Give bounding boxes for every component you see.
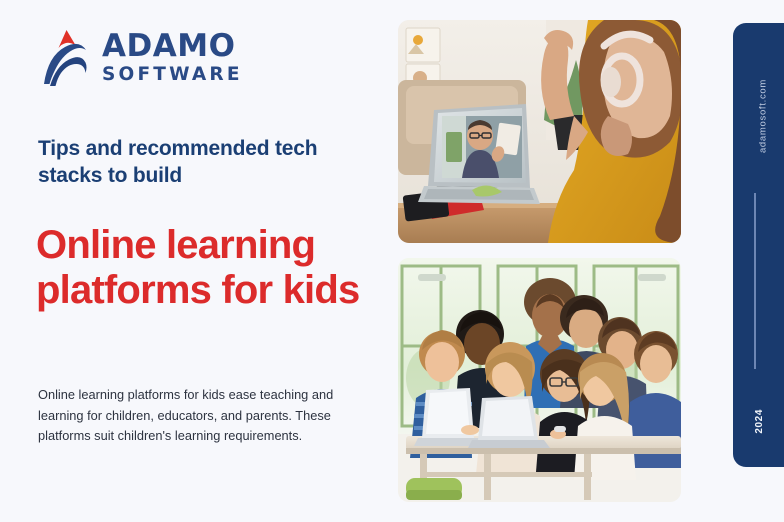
sidebar-website-url[interactable]: adamosoft.com: [758, 79, 769, 153]
body-paragraph: Online learning platforms for kids ease …: [38, 385, 348, 447]
brand-logo[interactable]: ADAMO SOFTWARE: [38, 26, 243, 90]
brand-name-secondary: SOFTWARE: [102, 66, 243, 85]
kicker-text: Tips and recommended tech stacks to buil…: [38, 136, 358, 190]
sidebar-divider: [754, 193, 756, 369]
page-title: Online learning platforms for kids: [36, 223, 376, 314]
sidebar-year: 2024: [754, 409, 765, 434]
photo-girl-video-call: [398, 20, 681, 243]
photo-classroom-kids-laptops: [398, 258, 681, 502]
left-content-column: ADAMO SOFTWARE Tips and recommended tech…: [0, 0, 390, 522]
brand-sidebar: adamosoft.com 2024: [733, 23, 784, 467]
brand-name-primary: ADAMO: [102, 31, 243, 62]
poster-canvas: ADAMO SOFTWARE Tips and recommended tech…: [0, 0, 784, 522]
brand-wordmark: ADAMO SOFTWARE: [102, 31, 243, 85]
adamo-swoosh-logo-icon: [38, 26, 90, 90]
